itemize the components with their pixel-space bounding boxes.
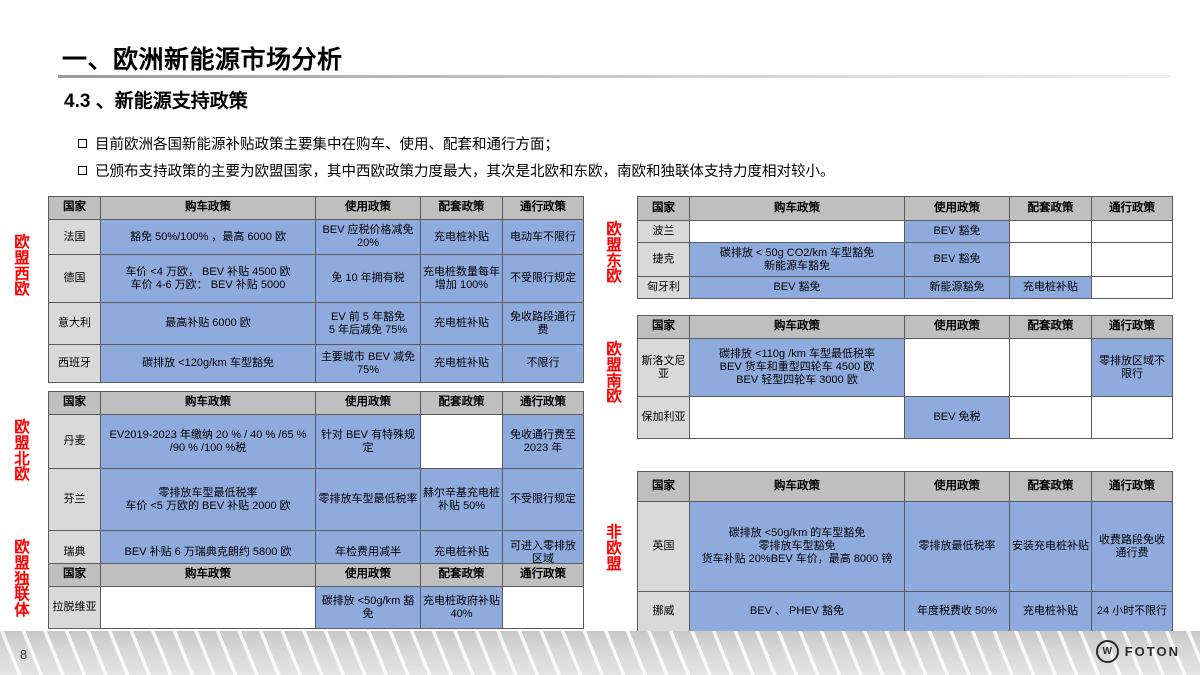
- cell-country: 西班牙: [49, 345, 101, 383]
- policy-table-non-eu: 国家购车政策使用政策配套政策通行政策英国碳排放 <50g/km 的车型豁免零排放…: [637, 471, 1173, 632]
- cell-purchase-policy: BEV 豁免: [690, 277, 905, 299]
- column-header-3: 配套政策: [421, 392, 503, 415]
- cell-access-policy: 不受限行规定: [503, 469, 584, 531]
- table-header-row: 国家购车政策使用政策配套政策通行政策: [638, 316, 1173, 339]
- cell-purchase-policy: 碳排放 <50g/km 的车型豁免零排放车型豁免货车补贴 20%BEV 车价，最…: [690, 502, 905, 592]
- cell-access-policy: 收费路段免收通行费: [1092, 502, 1173, 592]
- bullet-item: 已颁布支持政策的主要为欧盟国家，其中西欧政策力度最大，其次是北欧和东欧，南欧和独…: [78, 160, 835, 181]
- table-row: 斯洛文尼亚碳排放 <110g /km 车型最低税率BEV 货车和重型四轮车 45…: [638, 339, 1173, 397]
- column-header-2: 使用政策: [905, 472, 1010, 502]
- cell-access-policy: 免收通行费至 2023 年: [503, 415, 584, 469]
- cell-country: 拉脱维亚: [49, 587, 101, 629]
- policy-table-eu-western-europe: 国家购车政策使用政策配套政策通行政策法国豁免 50%/100% ，最高 6000…: [48, 196, 584, 383]
- cell-usage-policy: BEV 豁免: [905, 221, 1010, 243]
- group-label-eu-eastern-europe: 欧盟东欧: [604, 222, 624, 285]
- cell-access-policy: [1092, 221, 1173, 243]
- policy-table-eu-eastern-europe: 国家购车政策使用政策配套政策通行政策波兰BEV 豁免捷克碳排放 < 50g CO…: [637, 196, 1173, 299]
- cell-infrastructure-policy: 充电桩补贴: [1010, 277, 1092, 299]
- column-header-3: 配套政策: [421, 197, 503, 220]
- column-header-4: 通行政策: [1092, 316, 1173, 339]
- table-header-row: 国家购车政策使用政策配套政策通行政策: [638, 472, 1173, 502]
- cell-infrastructure-policy: 充电桩数量每年增加 100%: [421, 255, 503, 303]
- cell-purchase-policy: 碳排放 <120g/km 车型豁免: [101, 345, 316, 383]
- cell-infrastructure-policy: 充电桩补贴: [421, 345, 503, 383]
- policy-table-eu-northern-europe: 国家购车政策使用政策配套政策通行政策丹麦EV2019-2023 年缴纳 20 %…: [48, 391, 584, 575]
- cell-access-policy: 免收路段通行费: [503, 303, 584, 345]
- column-header-3: 配套政策: [1010, 197, 1092, 221]
- cell-purchase-policy: [690, 221, 905, 243]
- table-row: 挪威BEV 、 PHEV 豁免年度税费收 50%充电桩补贴24 小时不限行: [638, 592, 1173, 632]
- column-header-0: 国家: [638, 316, 690, 339]
- cell-usage-policy: 免 10 年拥有税: [316, 255, 421, 303]
- foton-emblem-icon: W: [1096, 640, 1119, 663]
- cell-purchase-policy: BEV 、 PHEV 豁免: [690, 592, 905, 632]
- bullet-item: 目前欧洲各国新能源补贴政策主要集中在购车、使用、配套和通行方面；: [78, 133, 559, 154]
- cell-country: 挪威: [638, 592, 690, 632]
- table-row: 德国车价 <4 万欧， BEV 补贴 4500 欧车价 4-6 万欧： BEV …: [49, 255, 584, 303]
- cell-infrastructure-policy: [421, 415, 503, 469]
- column-header-1: 购车政策: [690, 316, 905, 339]
- column-header-1: 购车政策: [101, 197, 316, 220]
- title-divider: [58, 75, 1171, 78]
- cell-country: 芬兰: [49, 469, 101, 531]
- cell-usage-policy: 零排放车型最低税率: [316, 469, 421, 531]
- cell-usage-policy: BEV 豁免: [905, 243, 1010, 277]
- cell-infrastructure-policy: [1010, 221, 1092, 243]
- table-header-row: 国家购车政策使用政策配套政策通行政策: [49, 197, 584, 220]
- column-header-0: 国家: [49, 197, 101, 220]
- cell-infrastructure-policy: 充电桩补贴: [1010, 592, 1092, 632]
- column-header-1: 购车政策: [690, 472, 905, 502]
- column-header-1: 购车政策: [690, 197, 905, 221]
- cell-usage-policy: BEV 免税: [905, 397, 1010, 439]
- cell-usage-policy: 主要城市 BEV 减免 75%: [316, 345, 421, 383]
- column-header-3: 配套政策: [421, 564, 503, 587]
- group-label-non-eu: 非欧盟: [604, 525, 624, 572]
- cell-usage-policy: 零排放最低税率: [905, 502, 1010, 592]
- cell-infrastructure-policy: 赫尔辛基充电桩补贴 50%: [421, 469, 503, 531]
- table-row: 丹麦EV2019-2023 年缴纳 20 % / 40 % /65 % /90 …: [49, 415, 584, 469]
- footer-band: [0, 631, 1200, 675]
- table-row: 西班牙碳排放 <120g/km 车型豁免主要城市 BEV 减免 75%充电桩补贴…: [49, 345, 584, 383]
- cell-country: 波兰: [638, 221, 690, 243]
- cell-infrastructure-policy: 安装充电桩补贴: [1010, 502, 1092, 592]
- brand-name: FOTON: [1125, 644, 1180, 659]
- cell-purchase-policy: [101, 587, 316, 629]
- column-header-4: 通行政策: [1092, 472, 1173, 502]
- cell-country: 法国: [49, 220, 101, 255]
- cell-infrastructure-policy: [1010, 243, 1092, 277]
- cell-infrastructure-policy: 充电桩补贴: [421, 303, 503, 345]
- column-header-0: 国家: [49, 392, 101, 415]
- group-label-eu-southern-europe: 欧盟南欧: [604, 342, 624, 405]
- cell-infrastructure-policy: 充电桩补贴: [421, 220, 503, 255]
- cell-access-policy: 24 小时不限行: [1092, 592, 1173, 632]
- table-header-row: 国家购车政策使用政策配套政策通行政策: [49, 564, 584, 587]
- column-header-4: 通行政策: [503, 564, 584, 587]
- bullet-square-icon: [78, 166, 87, 175]
- table-row: 法国豁免 50%/100% ，最高 6000 欧BEV 应税价格减免 20%充电…: [49, 220, 584, 255]
- bullet-square-icon: [78, 139, 87, 148]
- cell-infrastructure-policy: 充电桩政府补贴 40%: [421, 587, 503, 629]
- cell-purchase-policy: 车价 <4 万欧， BEV 补贴 4500 欧车价 4-6 万欧： BEV 补贴…: [101, 255, 316, 303]
- cell-access-policy: 不受限行规定: [503, 255, 584, 303]
- column-header-1: 购车政策: [101, 392, 316, 415]
- column-header-2: 使用政策: [905, 197, 1010, 221]
- column-header-2: 使用政策: [316, 197, 421, 220]
- group-label-eu-cis: 欧盟独联体: [12, 540, 32, 619]
- cell-country: 保加利亚: [638, 397, 690, 439]
- page-number: 8: [20, 647, 27, 662]
- column-header-3: 配套政策: [1010, 472, 1092, 502]
- page-title: 一、欧洲新能源市场分析: [62, 40, 343, 76]
- cell-usage-policy: 针对 BEV 有特殊规定: [316, 415, 421, 469]
- bullet-text: 已颁布支持政策的主要为欧盟国家，其中西欧政策力度最大，其次是北欧和东欧，南欧和独…: [95, 164, 835, 180]
- slide-root: 一、欧洲新能源市场分析 4.3 、新能源支持政策 目前欧洲各国新能源补贴政策主要…: [0, 0, 1200, 675]
- cell-usage-policy: EV 前 5 年豁免5 年后减免 75%: [316, 303, 421, 345]
- cell-purchase-policy: 最高补贴 6000 欧: [101, 303, 316, 345]
- column-header-1: 购车政策: [101, 564, 316, 587]
- cell-access-policy: [1092, 243, 1173, 277]
- table-row: 保加利亚BEV 免税: [638, 397, 1173, 439]
- cell-usage-policy: 碳排放 <50g/km 豁免: [316, 587, 421, 629]
- table-row: 匈牙利BEV 豁免新能源豁免充电桩补贴: [638, 277, 1173, 299]
- brand-logo: W FOTON: [1096, 640, 1180, 663]
- policy-table-eu-southern-europe: 国家购车政策使用政策配套政策通行政策斯洛文尼亚碳排放 <110g /km 车型最…: [637, 315, 1173, 439]
- column-header-0: 国家: [638, 197, 690, 221]
- column-header-2: 使用政策: [316, 392, 421, 415]
- column-header-4: 通行政策: [503, 392, 584, 415]
- cell-access-policy: 不限行: [503, 345, 584, 383]
- table-row: 捷克碳排放 < 50g CO2/km 车型豁免新能源车豁免BEV 豁免: [638, 243, 1173, 277]
- group-label-eu-northern-europe: 欧盟北欧: [12, 420, 32, 483]
- cell-country: 英国: [638, 502, 690, 592]
- table-row: 英国碳排放 <50g/km 的车型豁免零排放车型豁免货车补贴 20%BEV 车价…: [638, 502, 1173, 592]
- table-row: 波兰BEV 豁免: [638, 221, 1173, 243]
- cell-usage-policy: 年度税费收 50%: [905, 592, 1010, 632]
- cell-access-policy: 零排放区域不限行: [1092, 339, 1173, 397]
- cell-usage-policy: BEV 应税价格减免 20%: [316, 220, 421, 255]
- cell-usage-policy: [905, 339, 1010, 397]
- table-row: 意大利最高补贴 6000 欧EV 前 5 年豁免5 年后减免 75%充电桩补贴免…: [49, 303, 584, 345]
- cell-usage-policy: 新能源豁免: [905, 277, 1010, 299]
- cell-country: 德国: [49, 255, 101, 303]
- cell-country: 斯洛文尼亚: [638, 339, 690, 397]
- policy-table-eu-cis: 国家购车政策使用政策配套政策通行政策拉脱维亚碳排放 <50g/km 豁免充电桩政…: [48, 563, 584, 629]
- cell-access-policy: [503, 587, 584, 629]
- column-header-4: 通行政策: [503, 197, 584, 220]
- cell-access-policy: [1092, 397, 1173, 439]
- column-header-2: 使用政策: [316, 564, 421, 587]
- cell-purchase-policy: 豁免 50%/100% ，最高 6000 欧: [101, 220, 316, 255]
- cell-country: 匈牙利: [638, 277, 690, 299]
- table-header-row: 国家购车政策使用政策配套政策通行政策: [49, 392, 584, 415]
- cell-purchase-policy: 碳排放 <110g /km 车型最低税率BEV 货车和重型四轮车 4500 欧B…: [690, 339, 905, 397]
- cell-purchase-policy: EV2019-2023 年缴纳 20 % / 40 % /65 % /90 % …: [101, 415, 316, 469]
- cell-infrastructure-policy: [1010, 397, 1092, 439]
- group-label-eu-western-europe: 欧盟西欧: [12, 235, 32, 298]
- column-header-0: 国家: [638, 472, 690, 502]
- cell-purchase-policy: [690, 397, 905, 439]
- column-header-0: 国家: [49, 564, 101, 587]
- column-header-3: 配套政策: [1010, 316, 1092, 339]
- section-title: 4.3 、新能源支持政策: [64, 86, 248, 113]
- cell-access-policy: 电动车不限行: [503, 220, 584, 255]
- cell-country: 丹麦: [49, 415, 101, 469]
- cell-purchase-policy: 零排放车型最低税率车价 <5 万欧的 BEV 补贴 2000 欧: [101, 469, 316, 531]
- cell-country: 捷克: [638, 243, 690, 277]
- table-header-row: 国家购车政策使用政策配套政策通行政策: [638, 197, 1173, 221]
- column-header-4: 通行政策: [1092, 197, 1173, 221]
- cell-access-policy: [1092, 277, 1173, 299]
- cell-infrastructure-policy: [1010, 339, 1092, 397]
- cell-country: 意大利: [49, 303, 101, 345]
- table-row: 拉脱维亚碳排放 <50g/km 豁免充电桩政府补贴 40%: [49, 587, 584, 629]
- bullet-text: 目前欧洲各国新能源补贴政策主要集中在购车、使用、配套和通行方面；: [95, 137, 559, 153]
- cell-purchase-policy: 碳排放 < 50g CO2/km 车型豁免新能源车豁免: [690, 243, 905, 277]
- column-header-2: 使用政策: [905, 316, 1010, 339]
- table-row: 芬兰零排放车型最低税率车价 <5 万欧的 BEV 补贴 2000 欧零排放车型最…: [49, 469, 584, 531]
